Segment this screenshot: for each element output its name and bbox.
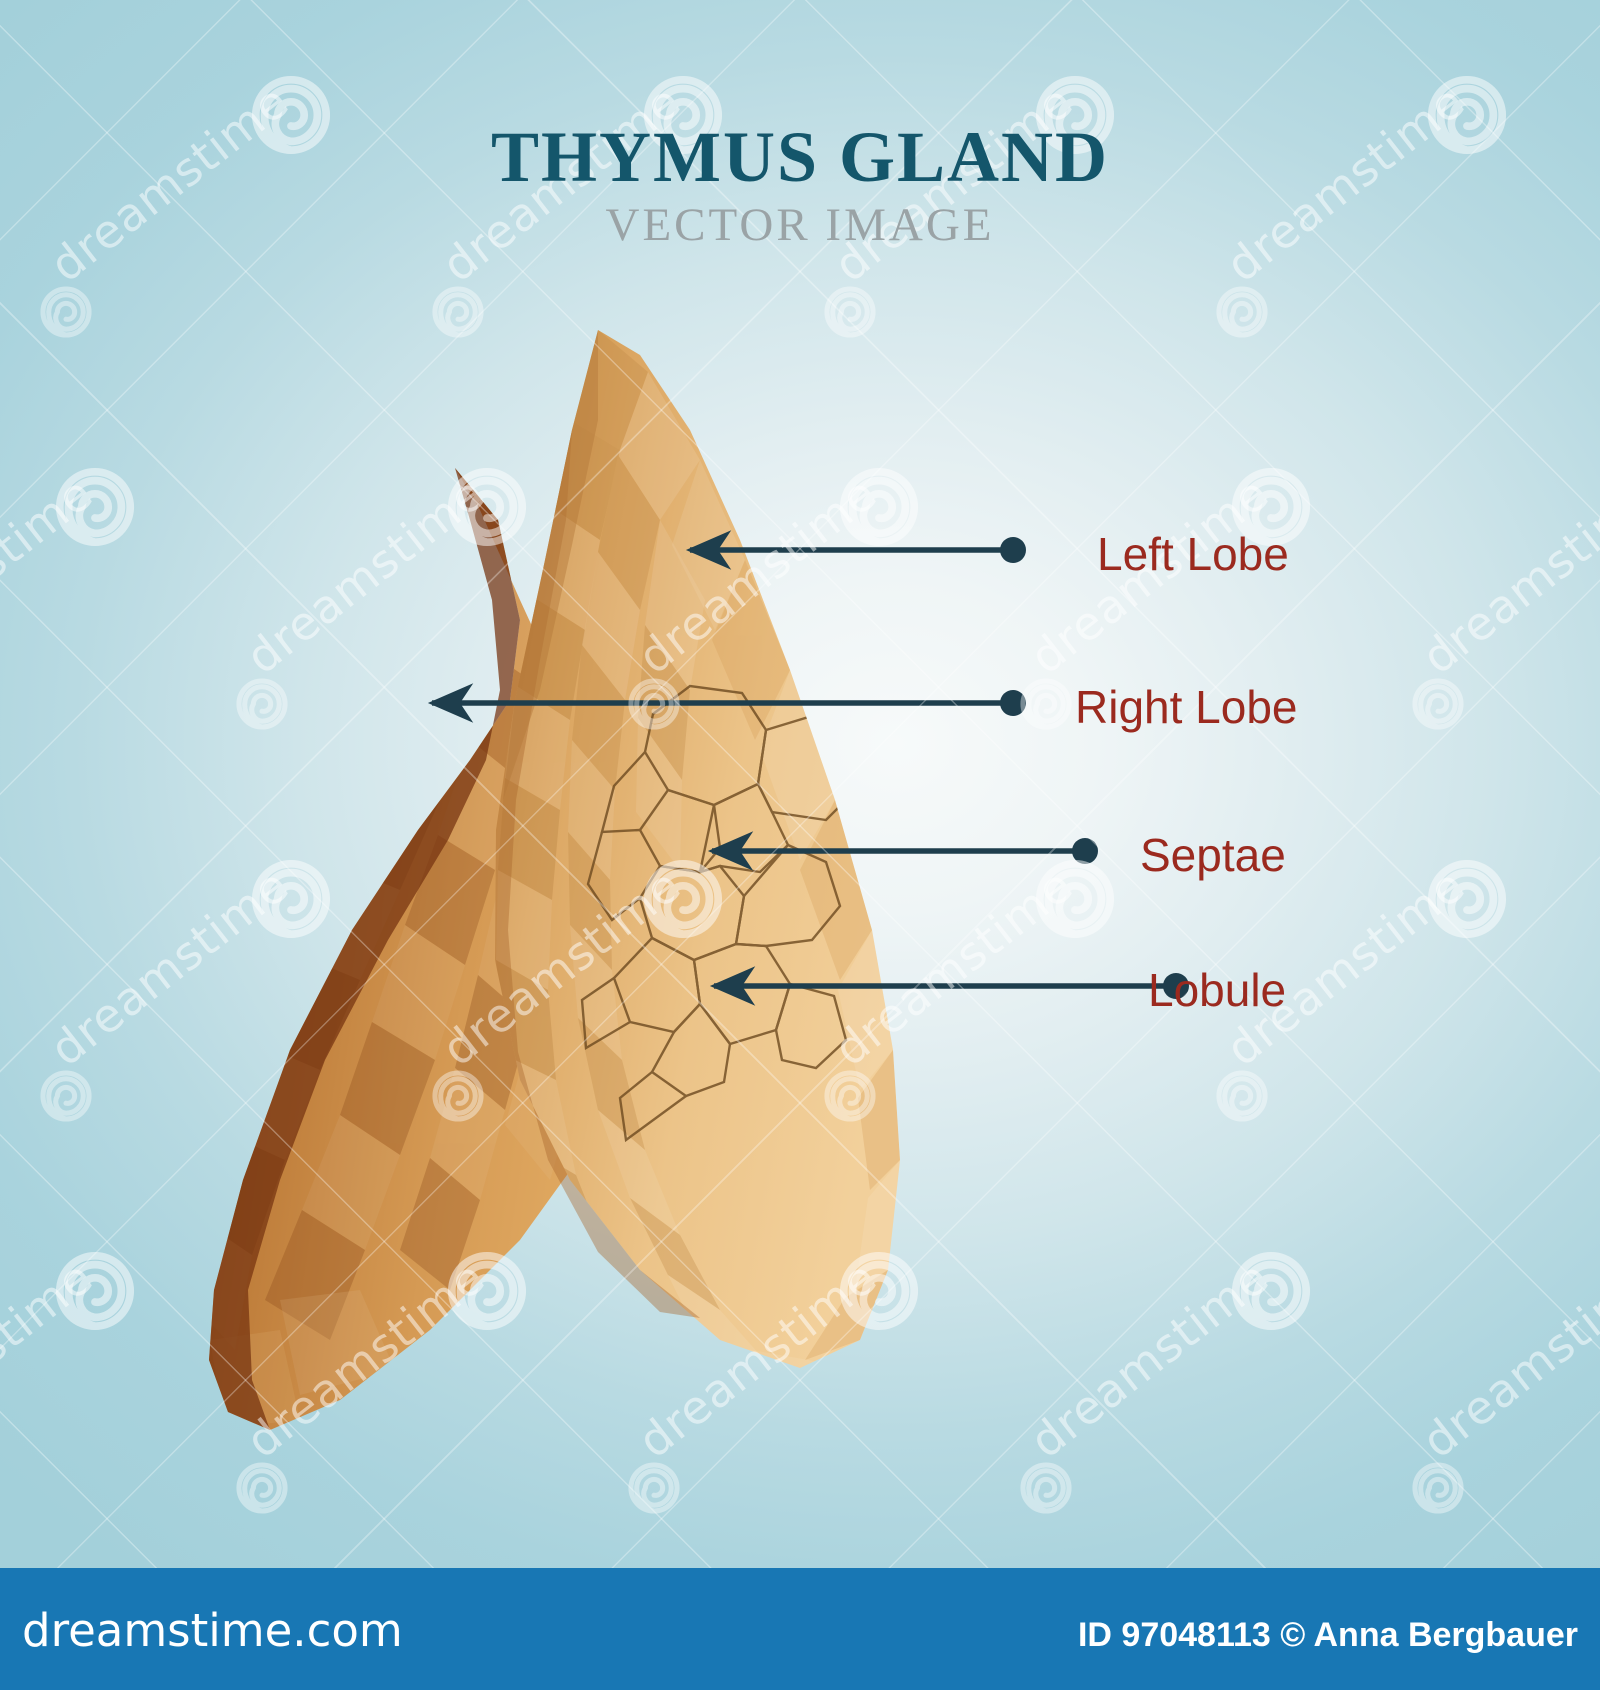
page-title: THYMUS GLAND — [0, 116, 1600, 199]
callout-label-lobule: Lobule — [1148, 963, 1286, 1017]
image-canvas: dreamstimedreamstimedreamstimedreamstime… — [0, 0, 1600, 1690]
image-credit: ID 97048113 © Anna Bergbauer — [1078, 1616, 1578, 1655]
callout-label-left-lobe: Left Lobe — [1097, 527, 1289, 581]
callout-label-septae: Septae — [1140, 828, 1286, 882]
footer-bar: dreamstime.com ID 97048113 © Anna Bergba… — [0, 1568, 1600, 1690]
thymus-gland-illustration — [0, 0, 1600, 1690]
dreamstime-logo[interactable]: dreamstime.com — [22, 1604, 403, 1657]
page-subtitle: VECTOR IMAGE — [0, 198, 1600, 252]
callout-label-right-lobe: Right Lobe — [1075, 680, 1298, 734]
dreamstime-logo-text: dreamstime.com — [22, 1604, 403, 1657]
